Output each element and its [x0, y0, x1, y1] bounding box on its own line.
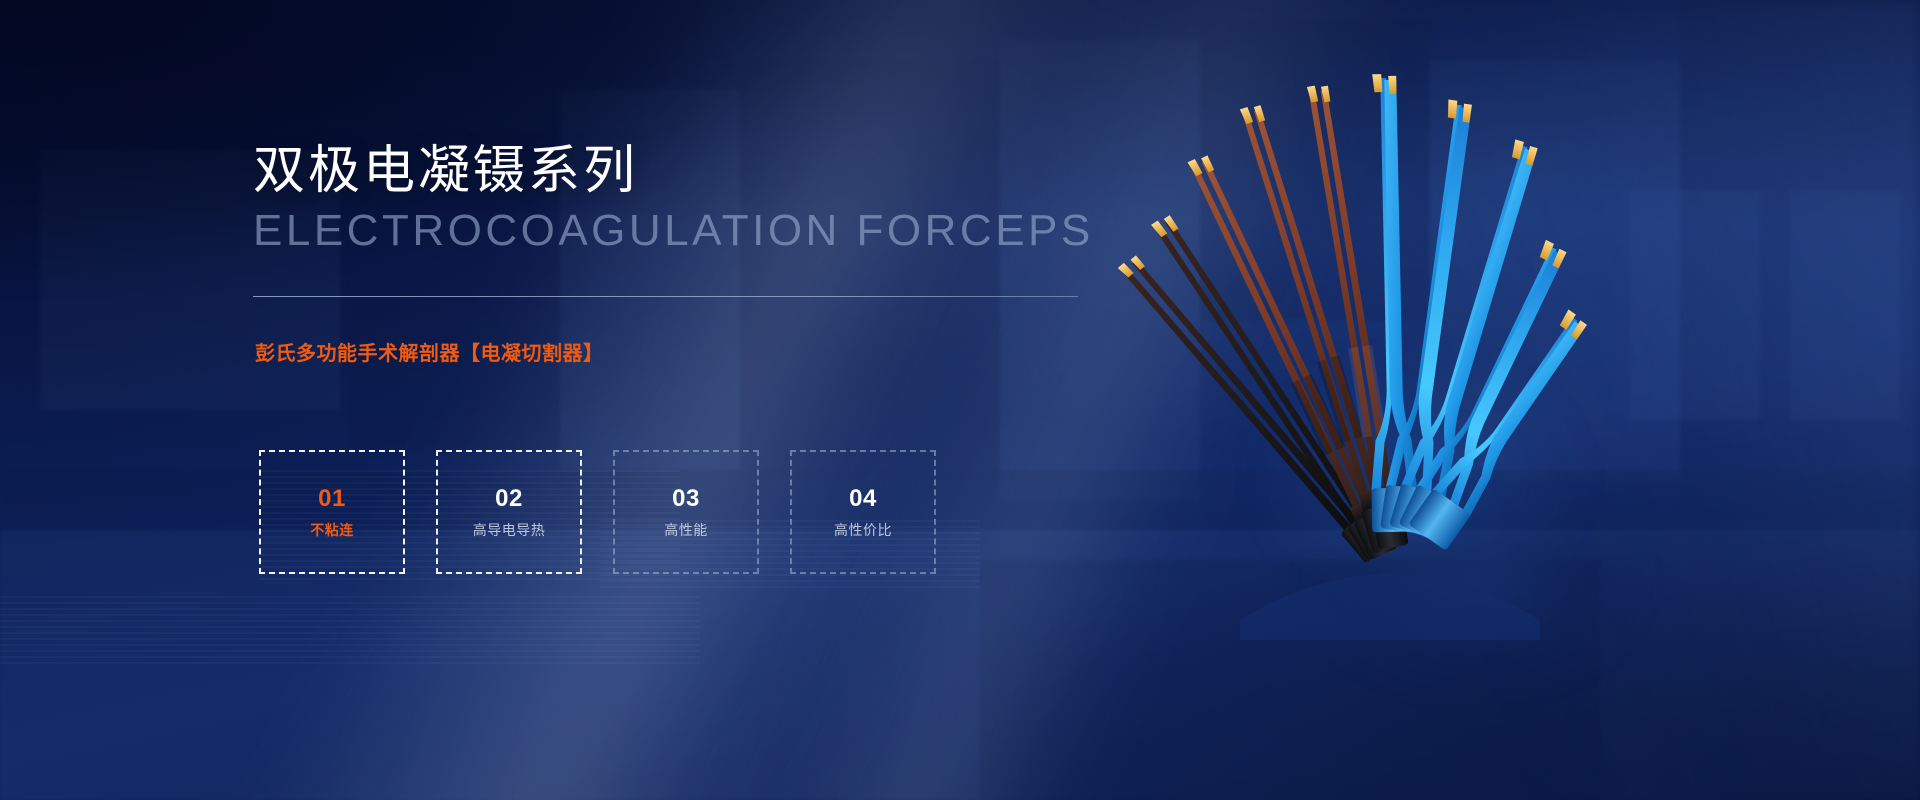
page-title: 双极电凝镊系列 [253, 144, 638, 199]
page-subtitle-english: ELECTROCOAGULATION FORCEPS [253, 208, 1094, 254]
feature-label: 高性能 [664, 523, 708, 537]
feature-card-02[interactable]: 02 高导电导热 [436, 450, 582, 574]
feature-card-03[interactable]: 03 高性能 [613, 450, 759, 574]
feature-number: 02 [495, 487, 523, 511]
feature-label: 不粘连 [310, 523, 354, 537]
background-blinds [0, 596, 700, 666]
product-name: 彭氏多功能手术解剖器【电凝切割器】 [255, 337, 604, 366]
feature-card-04[interactable]: 04 高性价比 [790, 450, 936, 574]
product-banner: 双极电凝镊系列 ELECTROCOAGULATION FORCEPS 彭氏多功能… [0, 0, 1920, 800]
feature-number: 01 [318, 487, 346, 511]
feature-label: 高导电导热 [473, 523, 546, 537]
feature-label: 高性价比 [834, 523, 892, 537]
feature-card-01[interactable]: 01 不粘连 [259, 450, 405, 574]
instrument-base-shadow [1295, 556, 1725, 786]
feature-list: 01 不粘连 02 高导电导热 03 高性能 04 高性价比 [259, 450, 936, 574]
feature-number: 03 [672, 487, 700, 511]
feature-number: 04 [849, 487, 877, 511]
divider [253, 296, 1078, 297]
